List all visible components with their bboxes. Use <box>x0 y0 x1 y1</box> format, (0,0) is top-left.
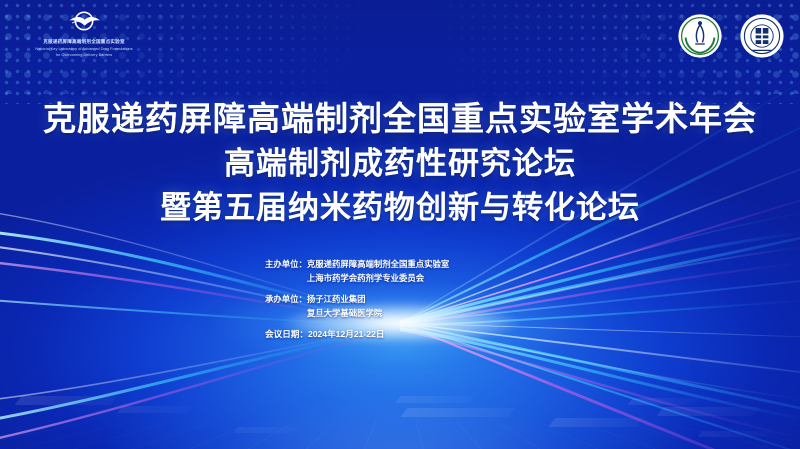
floor-tile <box>400 408 515 417</box>
partner-logos <box>676 12 786 60</box>
floor-tile <box>14 396 117 405</box>
conference-banner: 克服递药屏障高端制剂全国重点实验室 National Key Laborator… <box>0 0 800 449</box>
title-block: 克服递药屏障高端制剂全国重点实验室学术年会 高端制剂成药性研究论坛 暨第五届纳米… <box>0 100 800 226</box>
floor-tile <box>627 398 698 405</box>
lab-logo-cn-name: 克服递药屏障高端制剂全国重点实验室 <box>43 39 125 46</box>
organizer-row: 承办单位： 扬子江药业集团 复旦大学基础医学院 <box>265 293 535 320</box>
floor-tile <box>656 407 759 416</box>
host-label: 主办单位： <box>265 258 307 285</box>
lab-logo-en-line2: for Overcoming Delivery Barriers <box>56 52 112 58</box>
floor-tile <box>395 396 474 403</box>
title-line-3: 暨第五届纳米药物创新与转化论坛 <box>0 190 800 227</box>
title-line-1: 克服递药屏障高端制剂全国重点实验室学术年会 <box>0 100 800 139</box>
host-value-2: 上海市药学会药剂学专业委员会 <box>307 272 535 286</box>
pharmaceutical-association-seal-icon <box>676 12 724 60</box>
organizer-value-2: 复旦大学基础医学院 <box>307 307 535 321</box>
floor-tile <box>117 406 192 413</box>
info-block: 主办单位： 克服递药屏障高端制剂全国重点实验室 上海市药学会药剂学专业委员会 承… <box>0 258 800 342</box>
title-line-2: 高端制剂成药性研究论坛 <box>0 146 800 183</box>
fudan-university-seal-icon <box>738 12 786 60</box>
conference-date: 会议日期：2024年12月21-22日 <box>265 328 535 342</box>
host-row: 主办单位： 克服递药屏障高端制剂全国重点实验室 上海市药学会药剂学专业委员会 <box>265 258 535 285</box>
floor-tile <box>234 427 299 433</box>
floor-tile <box>698 431 773 437</box>
lab-logo: 克服递药屏障高端制剂全国重点实验室 National Key Laborator… <box>18 9 150 58</box>
floor-tile <box>548 418 643 427</box>
organizer-label: 承办单位： <box>265 293 307 320</box>
lab-bird-emblem-icon <box>64 9 104 37</box>
host-value-1: 克服递药屏障高端制剂全国重点实验室 <box>307 258 535 272</box>
organizer-value-1: 扬子江药业集团 <box>307 293 535 307</box>
